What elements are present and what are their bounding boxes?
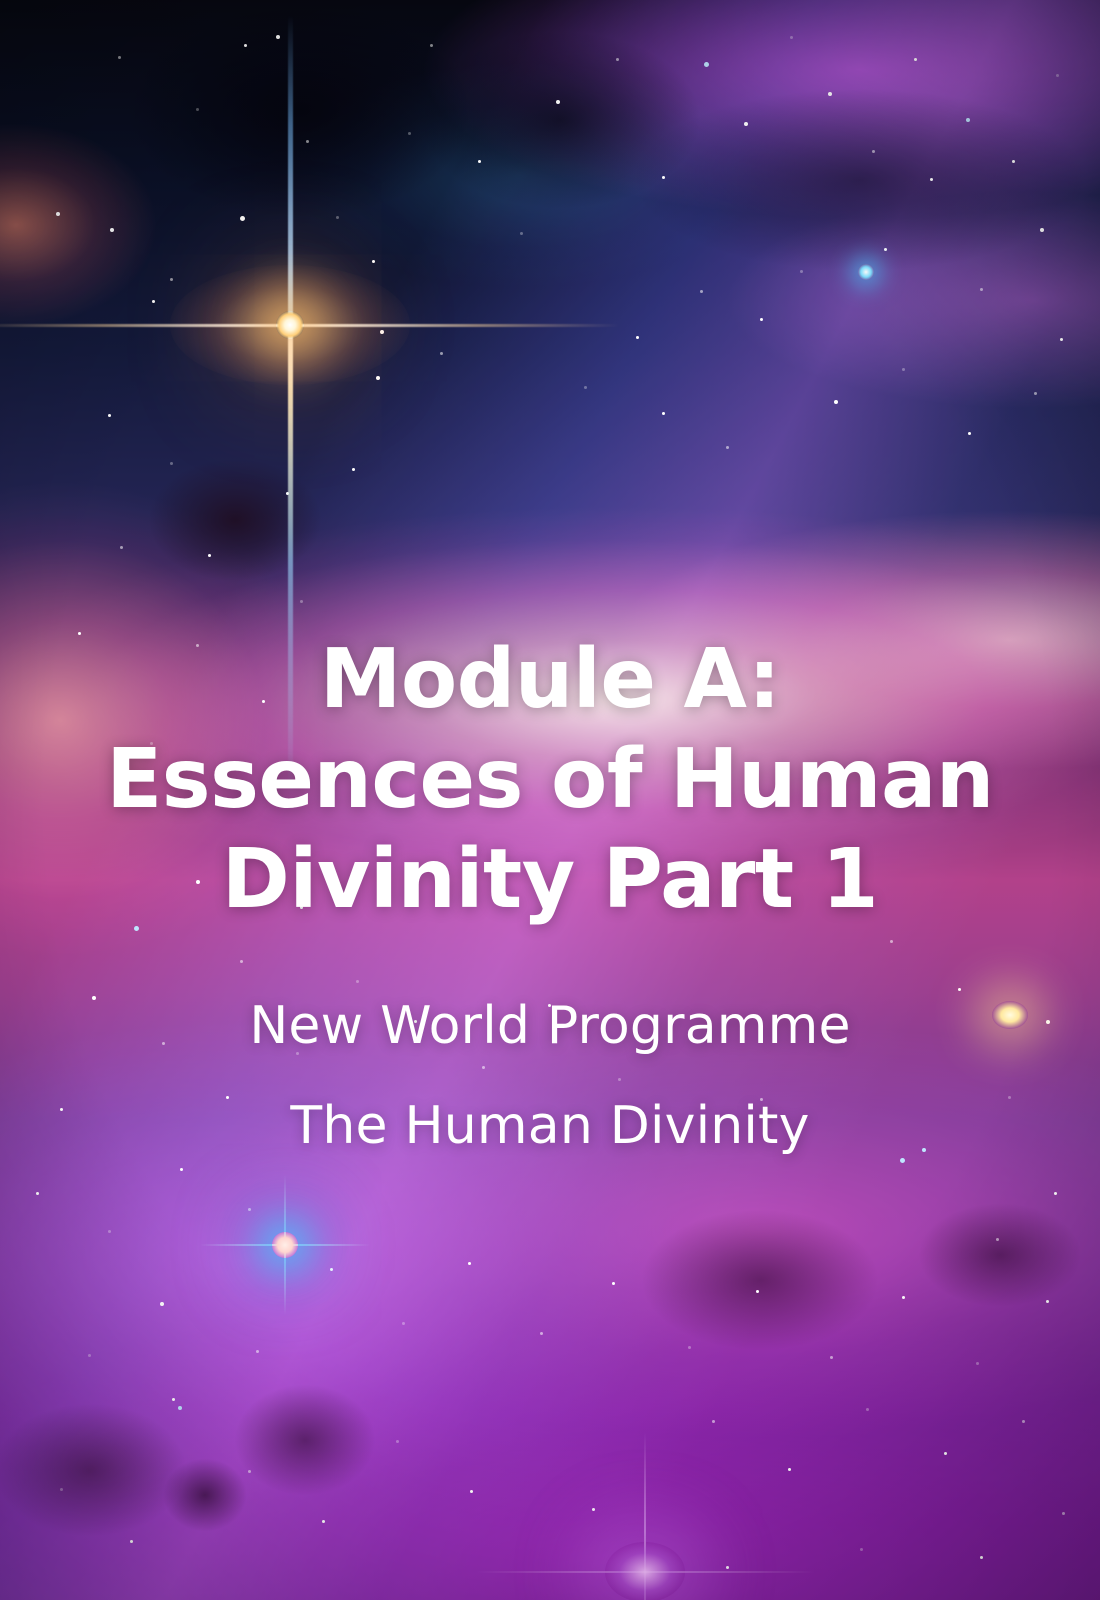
subtitle-programme: New World Programme xyxy=(0,990,1100,1062)
title-line-2: Essences of Human xyxy=(0,730,1100,830)
title-line-1: Module A: xyxy=(0,630,1100,730)
subtitle-series: The Human Divinity xyxy=(0,1090,1100,1162)
flare-core xyxy=(272,1232,298,1258)
flare-core xyxy=(605,1542,685,1600)
title-slide: Module A: Essences of Human Divinity Par… xyxy=(0,0,1100,1600)
text-block: Module A: Essences of Human Divinity Par… xyxy=(0,630,1100,1162)
flare-ray-horizontal xyxy=(0,324,620,327)
flare-core xyxy=(858,264,874,280)
subtitle-group: New World Programme The Human Divinity xyxy=(0,990,1100,1162)
page-title: Module A: Essences of Human Divinity Par… xyxy=(0,630,1100,930)
title-line-3: Divinity Part 1 xyxy=(0,830,1100,930)
flare-core xyxy=(276,311,304,339)
